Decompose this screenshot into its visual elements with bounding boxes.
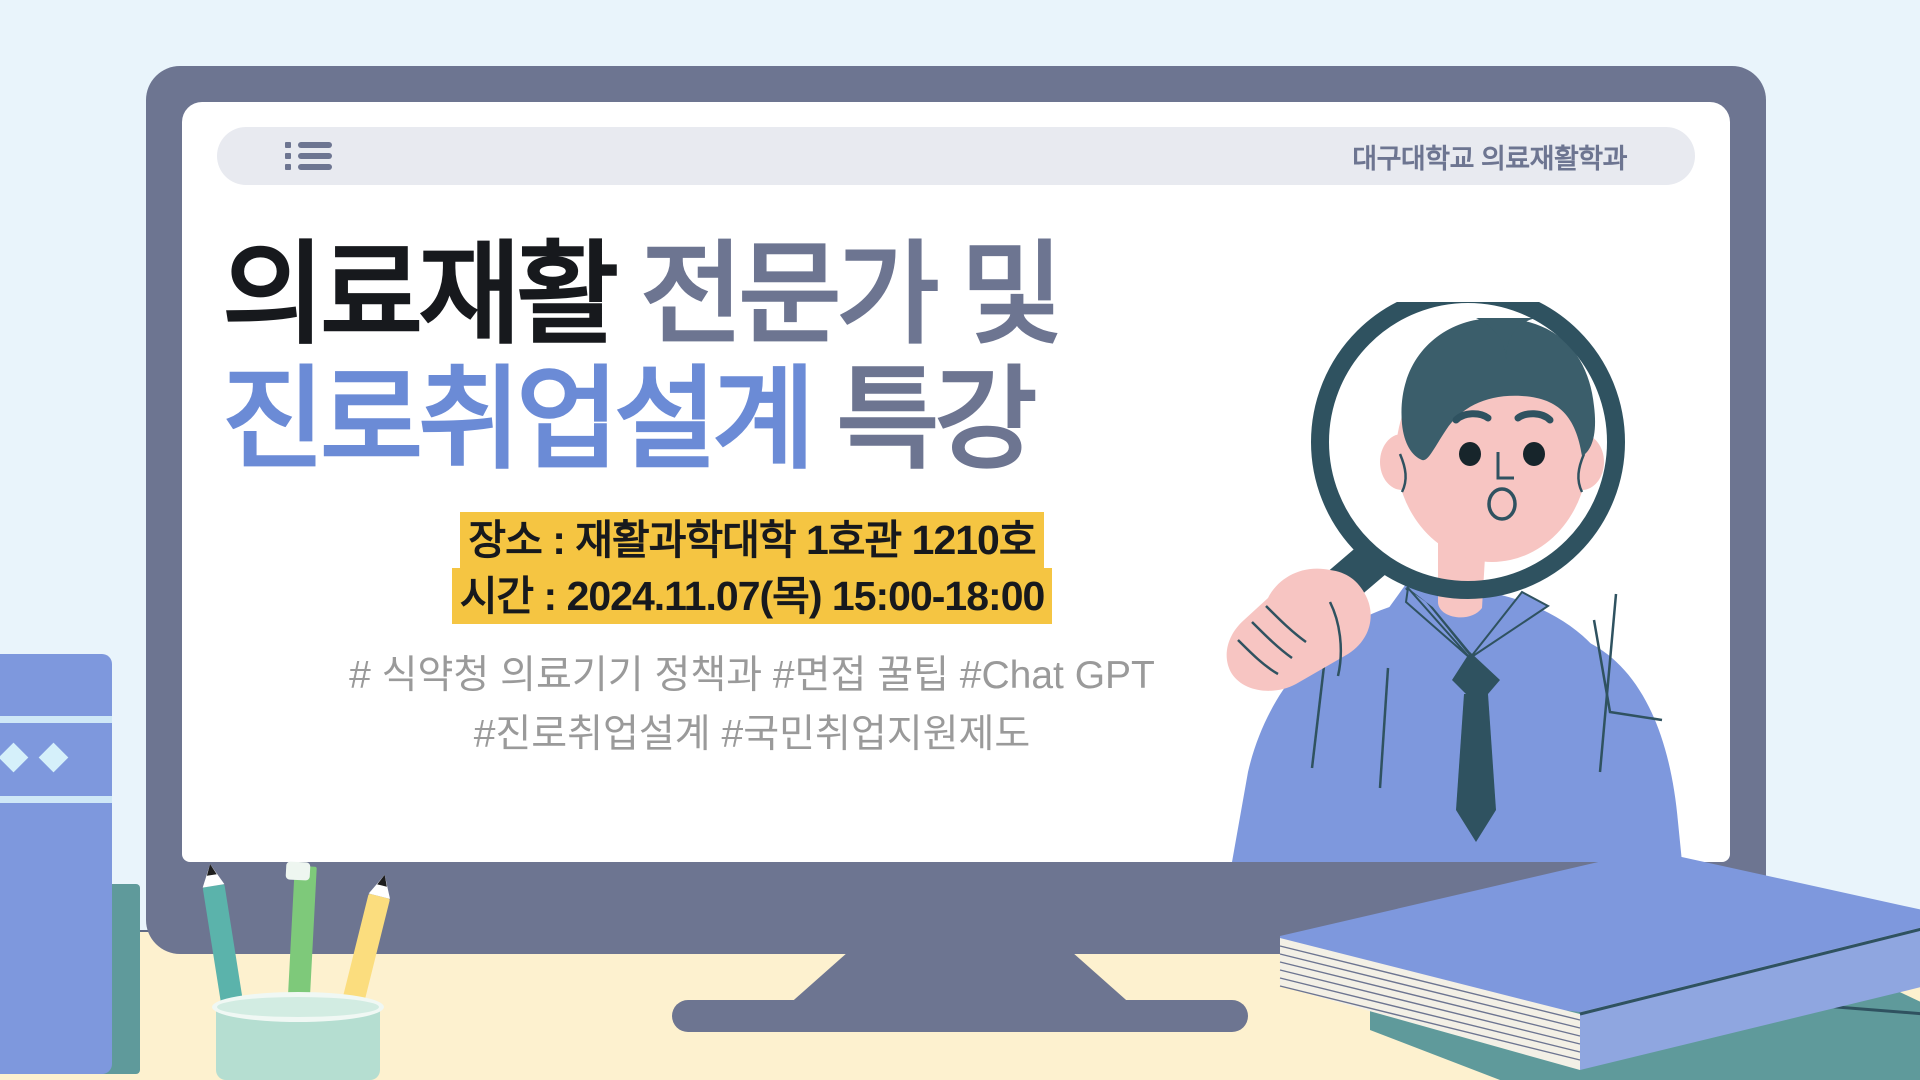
headline-block: 의료재활 전문가 및 진로취업설계 특강 — [222, 232, 1202, 483]
headline-emphasis-2: 진로취업설계 — [222, 357, 810, 482]
book-diamond-icon — [0, 743, 28, 773]
list-row — [285, 153, 332, 159]
headline-rest-2: 특강 — [810, 357, 1032, 482]
event-info-block: 장소 : 재활과학대학 1호관 1210호 시간 : 2024.11.07(목)… — [222, 512, 1282, 624]
event-place: 장소 : 재활과학대학 1호관 1210호 — [460, 512, 1043, 568]
pencil-cup-group — [212, 862, 392, 1080]
list-line — [298, 142, 332, 148]
list-menu-icon[interactable] — [285, 142, 332, 170]
list-bullet-icon — [285, 164, 291, 170]
monitor-screen: 대구대학교 의료재활학과 의료재활 전문가 및 진로취업설계 특강 장소 : 재… — [182, 102, 1730, 862]
list-line — [298, 153, 332, 159]
left-book-blue — [0, 654, 112, 1074]
headline-line-2: 진로취업설계 특강 — [222, 357, 1202, 482]
department-label: 대구대학교 의료재활학과 — [1352, 137, 1627, 176]
list-line — [298, 164, 332, 170]
list-row — [285, 164, 332, 170]
headline-emphasis-1: 의료재활 — [222, 232, 614, 357]
man-with-magnifying-glass-illustration — [1170, 302, 1730, 862]
headline-line-1: 의료재활 전문가 및 — [222, 232, 1202, 357]
monitor-stand-base — [672, 1000, 1248, 1032]
list-row — [285, 142, 332, 148]
pen-cap — [286, 861, 311, 880]
poster-stage: 대구대학교 의료재활학과 의료재활 전문가 및 진로취업설계 특강 장소 : 재… — [0, 0, 1920, 1080]
book-stripe-bottom — [0, 796, 112, 803]
book-stripe-top — [0, 716, 112, 723]
hashtag-line-1: # 식약청 의료기기 정책과 #면접 꿀팁 #Chat GPT — [222, 647, 1282, 706]
pencil-lead — [205, 863, 217, 875]
hashtag-line-2: #진로취업설계 #국민취업지원제도 — [222, 706, 1282, 765]
pencil-cup-rim — [212, 992, 384, 1022]
headline-rest-1: 전문가 및 — [614, 232, 1058, 357]
right-book-stack — [1250, 820, 1920, 1080]
screen-topbar: 대구대학교 의료재활학과 — [217, 127, 1695, 185]
list-bullet-icon — [285, 142, 291, 148]
event-time: 시간 : 2024.11.07(목) 15:00-18:00 — [452, 568, 1053, 624]
eye-left — [1459, 442, 1481, 466]
list-bullet-icon — [285, 153, 291, 159]
book-diamond-icon — [39, 743, 69, 773]
eye-right — [1523, 442, 1545, 466]
hashtag-block: # 식약청 의료기기 정책과 #면접 꿀팁 #Chat GPT #진로취업설계 … — [222, 647, 1282, 764]
